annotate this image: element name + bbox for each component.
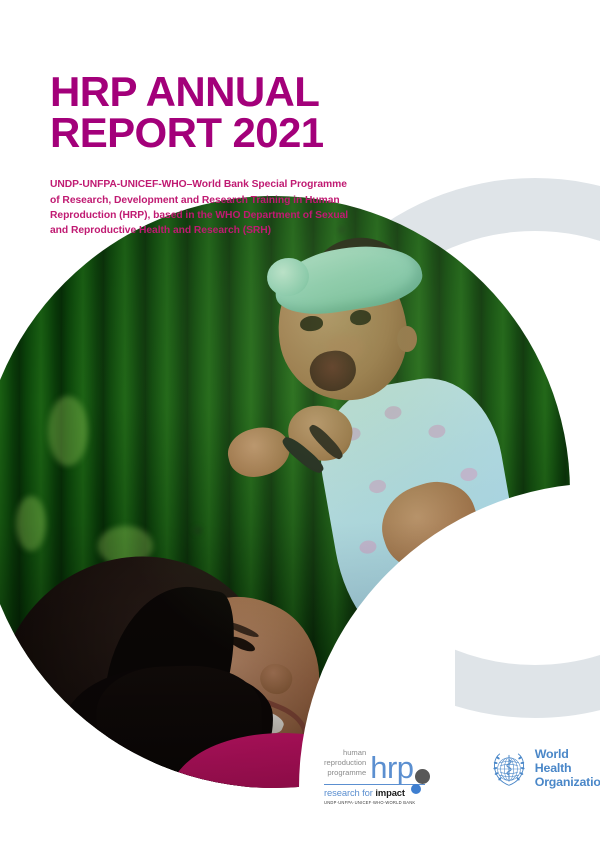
hrp-logo-mark: hrp bbox=[370, 756, 413, 781]
hrp-logo-partners: UNDP·UNFPA·UNICEF·WHO·WORLD BANK bbox=[324, 800, 454, 805]
hrp-tagline-emphasis: impact bbox=[375, 787, 405, 798]
hrp-grey-dot-icon bbox=[415, 769, 430, 784]
hrp-logo-letters: hrp bbox=[370, 756, 413, 781]
hrp-tagline-prefix: research for bbox=[324, 787, 375, 798]
cover-text-block: HRP ANNUAL REPORT 2021 UNDP-UNFPA-UNICEF… bbox=[50, 72, 410, 249]
world-health-organization-logo: World Health Organization bbox=[490, 748, 600, 790]
who-emblem-icon bbox=[490, 750, 528, 788]
hrp-logo-top: human reproduction programme hrp bbox=[324, 748, 454, 781]
page-title: HRP ANNUAL REPORT 2021 bbox=[50, 72, 410, 153]
hrp-logo-tagline: research for impact bbox=[324, 787, 454, 798]
logo-row: human reproduction programme hrp researc… bbox=[324, 748, 600, 805]
cover-subtitle: UNDP-UNFPA-UNICEF-WHO–World Bank Special… bbox=[50, 177, 410, 238]
hrp-logo: human reproduction programme hrp researc… bbox=[324, 748, 454, 805]
hrp-logo-wordmark-text: human reproduction programme bbox=[324, 748, 366, 781]
who-logo-text: World Health Organization bbox=[535, 748, 600, 790]
report-cover-page: HRP ANNUAL REPORT 2021 UNDP-UNFPA-UNICEF… bbox=[0, 0, 600, 848]
